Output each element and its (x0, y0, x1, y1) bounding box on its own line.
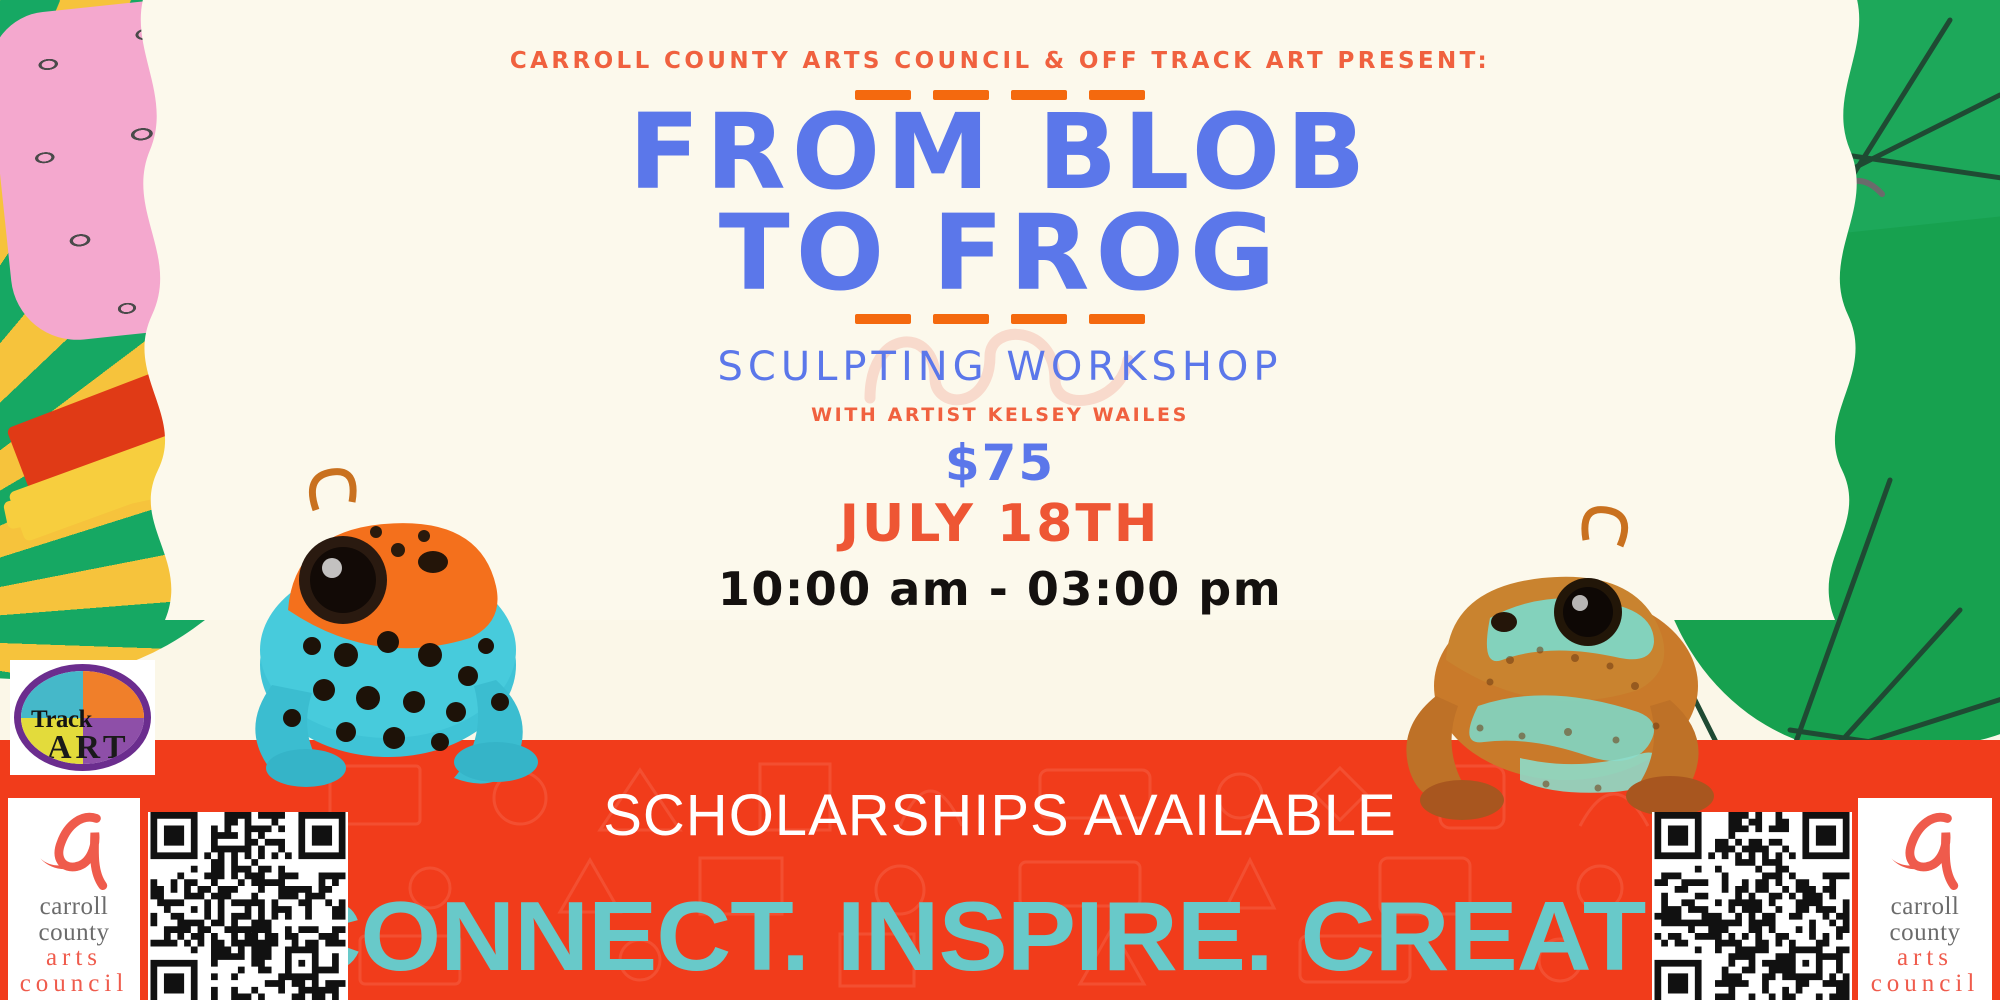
cca-line-4: council (1871, 971, 1980, 997)
cca-line-3: arts (20, 945, 129, 971)
cca-line-1: carroll (1871, 894, 1980, 920)
carroll-arts-a-mark-icon (26, 810, 122, 894)
qr-code-right[interactable] (1652, 812, 1852, 1000)
cca-line-2: county (20, 920, 129, 946)
dash (1011, 314, 1067, 324)
carroll-county-arts-logo-left: carroll county arts council (8, 798, 140, 1000)
subtitle-group: SCULPTING WORKSHOP (718, 344, 1283, 390)
off-track-art-logo: Track ART (10, 660, 155, 775)
carroll-arts-a-mark-icon (1877, 810, 1973, 894)
qr-code-left-image[interactable] (148, 812, 348, 1000)
cca-line-1: carroll (20, 894, 129, 920)
frog-sculpture-right (1370, 500, 1750, 830)
presenter-line: CARROLL COUNTY ARTS COUNCIL & OFF TRACK … (0, 48, 2000, 74)
qr-code-left[interactable] (148, 812, 348, 1000)
off-track-art-word-bottom: ART (47, 729, 130, 767)
frog-sculpture-left (228, 450, 598, 800)
dash (933, 314, 989, 324)
cca-line-4: council (20, 971, 129, 997)
dash (855, 314, 911, 324)
off-track-art-ring-icon: Track ART (14, 664, 151, 771)
title-line-1: FROM BLOB (0, 102, 2000, 203)
poster-canvas: CARROLL COUNTY ARTS COUNCIL & OFF TRACK … (0, 0, 2000, 1000)
cca-line-2: county (1871, 920, 1980, 946)
dash (1089, 314, 1145, 324)
carroll-county-arts-logo-right: carroll county arts council (1858, 798, 1992, 1000)
artist-credit: WITH ARTIST KELSEY WAILES (0, 404, 2000, 426)
qr-code-right-image[interactable] (1652, 812, 1852, 1000)
dash-divider-bottom (0, 314, 2000, 324)
cca-line-3: arts (1871, 945, 1980, 971)
subtitle-text: SCULPTING WORKSHOP (718, 344, 1283, 390)
title-line-2: TO FROG (0, 203, 2000, 304)
